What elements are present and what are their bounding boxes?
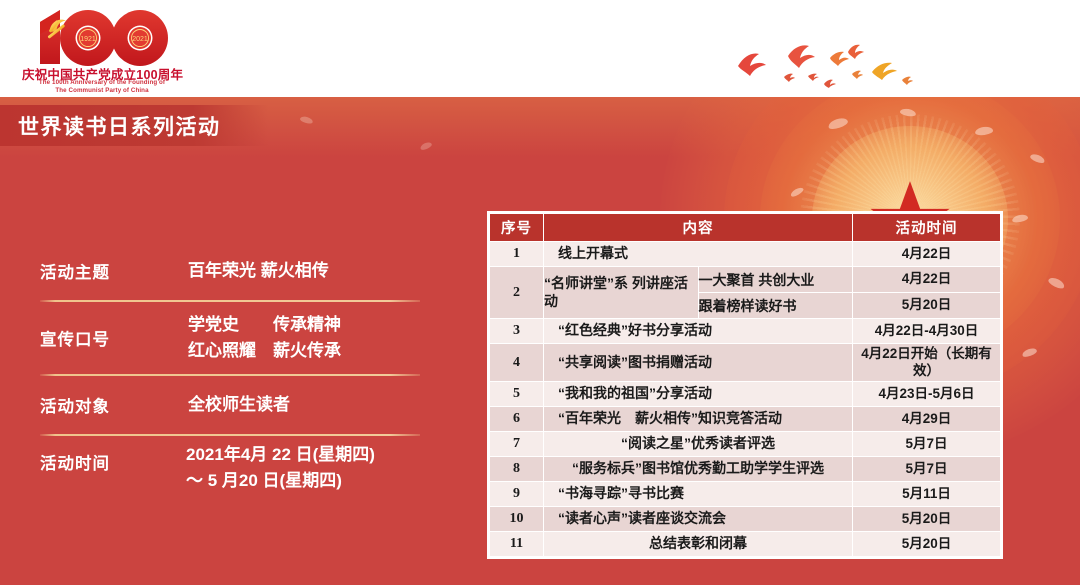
info-row-audience: 活动对象 全校师生读者: [40, 376, 420, 434]
row-number: 4: [490, 344, 544, 382]
row-time: 5月11日: [853, 482, 1001, 507]
row-content: “读者心声”读者座谈交流会: [544, 507, 853, 532]
info-value-audience: 全校师生读者: [186, 392, 420, 418]
table-header-row: 序号 内容 活动时间: [490, 214, 1001, 242]
row-content: “我和我的祖国”分享活动: [544, 382, 853, 407]
anniversary-100-icon: 1921 2021: [22, 2, 182, 68]
svg-text:2021: 2021: [132, 36, 148, 43]
table-row[interactable]: 11 总结表彰和闭幕 5月20日: [490, 532, 1001, 557]
activity-info-panel: 活动主题 百年荣光 薪火相传 宣传口号 学党史 传承精神 红心照耀 薪火传承 活…: [40, 242, 420, 500]
page-title: 世界读书日系列活动: [18, 111, 221, 141]
row-number: 7: [490, 432, 544, 457]
column-header-no: 序号: [490, 214, 544, 242]
table-row[interactable]: 4 “共享阅读”图书捐赠活动 4月22日开始（长期有效）: [490, 344, 1001, 382]
row-number: 10: [490, 507, 544, 532]
row-content: “共享阅读”图书捐赠活动: [544, 344, 853, 382]
row-time: 4月23日-5月6日: [853, 382, 1001, 407]
section-title-banner: 世界读书日系列活动: [0, 105, 268, 146]
schedule-table-wrapper: 序号 内容 活动时间 1 线上开幕式 4月22日 2 “名师讲堂”系 列讲座活动: [487, 211, 1003, 559]
petal-decoration: [1047, 276, 1066, 291]
row-number: 9: [490, 482, 544, 507]
table-row[interactable]: 10 “读者心声”读者座谈交流会 5月20日: [490, 507, 1001, 532]
row-number: 11: [490, 532, 544, 557]
column-header-time: 活动时间: [853, 214, 1001, 242]
row-time: 4月22日开始（长期有效）: [853, 344, 1001, 382]
petal-decoration: [900, 108, 917, 118]
petal-decoration: [1011, 213, 1028, 223]
row-content: 总结表彰和闭幕: [544, 532, 853, 557]
svg-text:1921: 1921: [80, 36, 96, 43]
info-value-time: 2021年4月 22 日(星期四) ～ 5 月20 日(星期四): [186, 442, 420, 495]
row-content: “服务标兵”图书馆优秀勤工助学学生评选: [544, 457, 853, 482]
flying-doves-icon: [726, 32, 926, 94]
table-header: 序号 内容 活动时间: [490, 214, 1001, 242]
main-body: 世界读书日系列活动 活动主题 百年荣光 薪火相传 宣传口号 学党史 传承精神 红…: [0, 97, 1080, 585]
info-value-slogan: 学党史 传承精神 红心照耀 薪火传承: [186, 312, 420, 365]
info-label-theme: 活动主题: [40, 259, 186, 283]
row-number: 6: [490, 407, 544, 432]
cpc-100-emblem: 1921 2021 庆祝中国共产党成立100周年 The 100th Anniv…: [22, 2, 182, 95]
row-time: 4月29日: [853, 407, 1001, 432]
petal-decoration: [419, 141, 432, 151]
petal-decoration: [827, 116, 849, 131]
table-row[interactable]: 9 “书海寻踪”寻书比赛 5月11日: [490, 482, 1001, 507]
emblem-english-line2: The Communist Party of China: [22, 87, 182, 95]
row-time: 5月20日: [853, 293, 1001, 319]
info-label-slogan: 宣传口号: [40, 326, 186, 350]
row-subcontent: 跟着榜样读好书: [698, 293, 853, 319]
row-group-label: “名师讲堂”系 列讲座活动: [544, 267, 699, 319]
table-row[interactable]: 2 “名师讲堂”系 列讲座活动 一大聚首 共创大业 4月22日: [490, 267, 1001, 293]
row-time: 5月7日: [853, 432, 1001, 457]
row-number: 2: [490, 267, 544, 319]
row-content: “红色经典”好书分享活动: [544, 319, 853, 344]
info-value-theme: 百年荣光 薪火相传: [186, 258, 420, 284]
petal-decoration: [975, 126, 994, 136]
emblem-english-text: The 100th Anniversary of the Founding of…: [22, 79, 182, 96]
row-time: 5月20日: [853, 507, 1001, 532]
petal-decoration: [1029, 152, 1046, 164]
row-subcontent: 一大聚首 共创大业: [698, 267, 853, 293]
info-row-slogan: 宣传口号 学党史 传承精神 红心照耀 薪火传承: [40, 302, 420, 374]
table-row[interactable]: 7 “阅读之星”优秀读者评选 5月7日: [490, 432, 1001, 457]
poster-canvas: 1921 2021 庆祝中国共产党成立100周年 The 100th Anniv…: [0, 0, 1080, 585]
emblem-english-line1: The 100th Anniversary of the Founding of: [22, 79, 182, 87]
info-label-time: 活动时间: [40, 436, 186, 474]
info-row-theme: 活动主题 百年荣光 薪火相传: [40, 242, 420, 300]
row-number: 8: [490, 457, 544, 482]
row-number: 5: [490, 382, 544, 407]
info-label-audience: 活动对象: [40, 393, 186, 417]
row-content: “百年荣光 薪火相传”知识竞答活动: [544, 407, 853, 432]
table-row[interactable]: 8 “服务标兵”图书馆优秀勤工助学学生评选 5月7日: [490, 457, 1001, 482]
column-header-content: 内容: [544, 214, 853, 242]
table-row[interactable]: 5 “我和我的祖国”分享活动 4月23日-5月6日: [490, 382, 1001, 407]
petal-decoration: [789, 186, 804, 198]
table-row[interactable]: 6 “百年荣光 薪火相传”知识竞答活动 4月29日: [490, 407, 1001, 432]
table-row[interactable]: 1 线上开幕式 4月22日: [490, 242, 1001, 267]
row-time: 4月22日: [853, 242, 1001, 267]
row-time: 4月22日-4月30日: [853, 319, 1001, 344]
row-time: 5月20日: [853, 532, 1001, 557]
petal-decoration: [1021, 347, 1037, 359]
petal-decoration: [299, 115, 313, 124]
header-strip: 1921 2021 庆祝中国共产党成立100周年 The 100th Anniv…: [0, 0, 1080, 97]
schedule-table: 序号 内容 活动时间 1 线上开幕式 4月22日 2 “名师讲堂”系 列讲座活动: [489, 213, 1001, 557]
row-content: 线上开幕式: [544, 242, 853, 267]
row-time: 5月7日: [853, 457, 1001, 482]
row-time: 4月22日: [853, 267, 1001, 293]
table-row[interactable]: 3 “红色经典”好书分享活动 4月22日-4月30日: [490, 319, 1001, 344]
row-number: 1: [490, 242, 544, 267]
row-content: “阅读之星”优秀读者评选: [544, 432, 853, 457]
row-number: 3: [490, 319, 544, 344]
row-content: “书海寻踪”寻书比赛: [544, 482, 853, 507]
info-row-time: 活动时间 2021年4月 22 日(星期四) ～ 5 月20 日(星期四): [40, 436, 420, 500]
table-body: 1 线上开幕式 4月22日 2 “名师讲堂”系 列讲座活动 一大聚首 共创大业 …: [490, 242, 1001, 557]
